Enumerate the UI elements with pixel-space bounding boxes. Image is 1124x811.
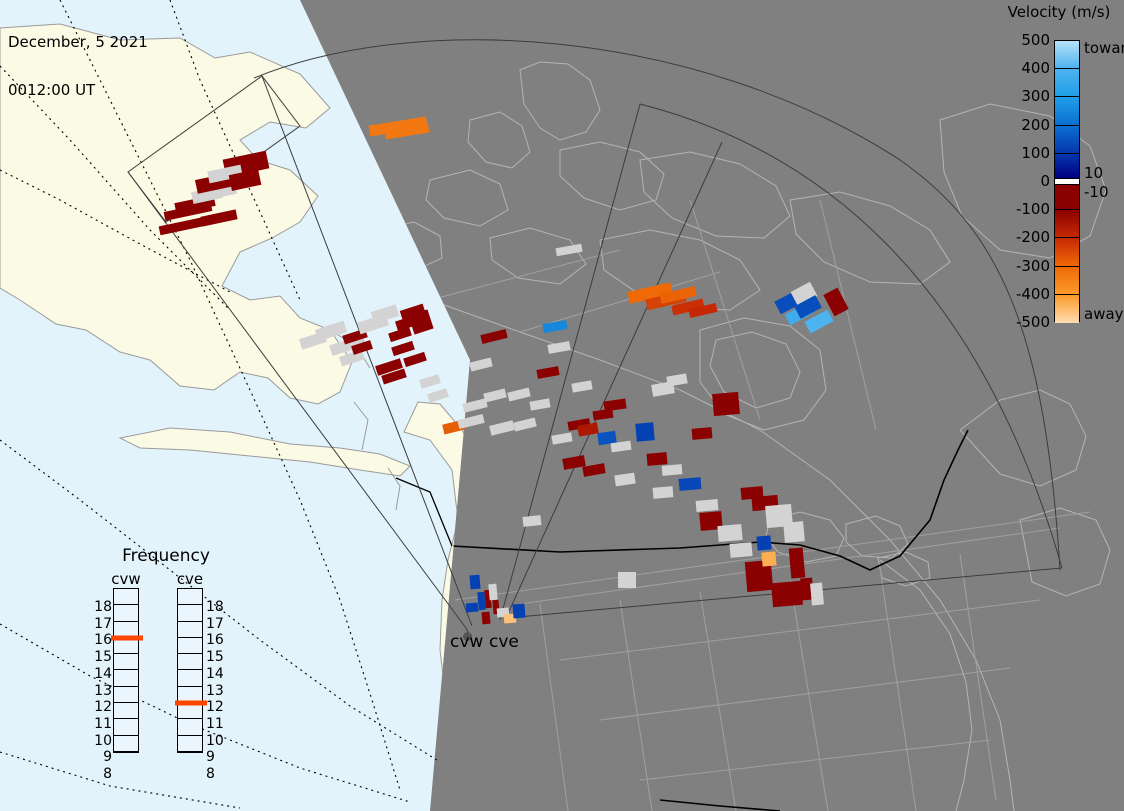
colorbar-tick: 500 (1006, 31, 1050, 49)
colorbar-tick: -300 (1006, 257, 1050, 275)
frequency-scale-cve: 18171615141312111098 (206, 607, 230, 774)
frequency-scale-label: 17 (92, 616, 112, 632)
colorbar-tick: 400 (1006, 59, 1050, 77)
velocity-cell (692, 427, 713, 440)
velocity-cell (696, 499, 719, 512)
frequency-cell (178, 719, 202, 735)
frequency-cell (178, 670, 202, 686)
frequency-cell (114, 703, 138, 719)
frequency-scale-label: 9 (206, 749, 226, 765)
colorbar-segment (1055, 267, 1079, 295)
velocity-cell (662, 464, 683, 476)
frequency-scale-label: 14 (92, 666, 112, 682)
frequency-marker (111, 635, 143, 640)
velocity-cell (789, 547, 806, 578)
frequency-scale-label: 12 (206, 699, 226, 715)
colorbar-side-label: 10 (1084, 164, 1103, 182)
frequency-scale-label: 11 (206, 716, 226, 732)
colorbar-tick: 200 (1006, 116, 1050, 134)
frequency-column-cve: cve 18171615141312111098 (172, 570, 208, 753)
colorbar-tick: -500 (1006, 313, 1050, 331)
frequency-scale-label: 11 (92, 716, 112, 732)
frequency-column-name-cve: cve (172, 570, 208, 588)
frequency-cell (114, 736, 138, 752)
frequency-scale-label: 13 (92, 683, 112, 699)
velocity-cell (618, 572, 636, 588)
velocity-cell (523, 515, 542, 527)
frequency-cell (178, 638, 202, 654)
colorbar-segment (1055, 97, 1079, 125)
timestamp-date: December, 5 2021 (8, 34, 148, 50)
velocity-cell (488, 584, 497, 601)
colorbar-segment (1055, 41, 1079, 69)
frequency-scale-cvw: 18171615141312111098 (88, 607, 112, 774)
colorbar-segment (1055, 126, 1079, 154)
timestamp: December, 5 2021 0012:00 UT (8, 2, 148, 130)
colorbar-tick: -400 (1006, 285, 1050, 303)
frequency-cell (178, 654, 202, 670)
frequency-cell (114, 670, 138, 686)
frequency-scale-label: 10 (92, 733, 112, 749)
frequency-scale-label: 12 (92, 699, 112, 715)
frequency-cell (114, 605, 138, 621)
velocity-cell (810, 583, 824, 606)
velocity-cell (729, 542, 752, 558)
frequency-cell (178, 736, 202, 752)
frequency-scale-label: 16 (206, 632, 226, 648)
colorbar-side-label: -10 (1084, 183, 1109, 201)
frequency-marker (175, 701, 207, 706)
colorbar-segment (1055, 210, 1079, 238)
velocity-cell (783, 521, 805, 543)
velocity-cell (761, 551, 776, 566)
velocity-cell (771, 581, 803, 608)
colorbar-side-label: toward (1084, 39, 1124, 57)
frequency-scale-label: 16 (92, 632, 112, 648)
velocity-cell (712, 392, 740, 416)
radar-site-label-cve: cve (489, 632, 519, 652)
velocity-cell (756, 535, 771, 550)
frequency-cell (114, 654, 138, 670)
colorbar-segment (1055, 69, 1079, 97)
velocity-cell (466, 602, 479, 612)
frequency-cell (114, 687, 138, 703)
frequency-scale-label: 17 (206, 616, 226, 632)
radar-site-label-cvw: cvw (450, 632, 483, 652)
colorbar-tick: 300 (1006, 87, 1050, 105)
timestamp-time: 0012:00 UT (8, 82, 148, 98)
frequency-scale-label: 15 (206, 649, 226, 665)
radar-map-figure: December, 5 2021 0012:00 UT cvw cve Velo… (0, 0, 1124, 811)
frequency-scale-label: 18 (92, 599, 112, 615)
colorbar-gradient-strip (1054, 40, 1080, 322)
frequency-scale-label: 13 (206, 683, 226, 699)
velocity-cell (717, 524, 742, 542)
frequency-cell (178, 605, 202, 621)
colorbar-segment (1055, 185, 1079, 210)
frequency-box-cvw: 18171615141312111098 (113, 588, 139, 753)
frequency-cell (114, 719, 138, 735)
velocity-cell (481, 612, 490, 625)
frequency-column-name-cvw: cvw (108, 570, 144, 588)
colorbar-segment (1055, 154, 1079, 179)
frequency-scale-label: 14 (206, 666, 226, 682)
colorbar-tick: 100 (1006, 144, 1050, 162)
velocity-cell (653, 486, 674, 499)
colorbar-tick: -200 (1006, 228, 1050, 246)
velocity-cell (469, 575, 480, 590)
velocity-cell (512, 604, 525, 619)
frequency-legend: Frequency cvw 18171615141312111098 cve 1… (86, 546, 246, 791)
velocity-cell (635, 422, 655, 442)
frequency-scale-label: 8 (206, 766, 226, 782)
colorbar-side-label: away (1084, 305, 1124, 323)
frequency-scale-label: 8 (92, 766, 112, 782)
colorbar-segment (1055, 295, 1079, 323)
frequency-legend-title: Frequency (86, 546, 246, 566)
frequency-column-cvw: cvw 18171615141312111098 (108, 570, 144, 753)
velocity-cell (679, 477, 702, 491)
frequency-cell (114, 589, 138, 605)
frequency-scale-label: 18 (206, 599, 226, 615)
colorbar-segment (1055, 238, 1079, 266)
frequency-scale-label: 15 (92, 649, 112, 665)
frequency-scale-label: 9 (92, 749, 112, 765)
colorbar-tick-labels: 5004003002001000-100-200-300-400-500 (1000, 0, 1050, 340)
colorbar-tick: 0 (1006, 172, 1050, 190)
frequency-scale-label: 10 (206, 733, 226, 749)
colorbar-tick: -100 (1006, 200, 1050, 218)
velocity-cell (647, 452, 668, 466)
frequency-box-cve: 18171615141312111098 (177, 588, 203, 753)
frequency-cell (178, 589, 202, 605)
frequency-cell (178, 622, 202, 638)
